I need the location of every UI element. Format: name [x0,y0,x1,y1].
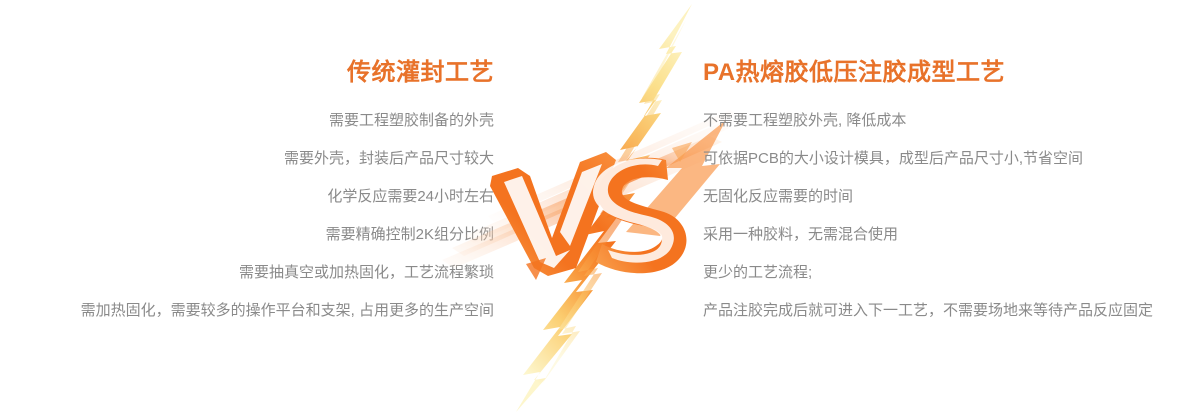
right-column-heading: PA热熔胶低压注胶成型工艺 [703,58,1005,88]
list-item: 不需要工程塑胶外壳, 降低成本 [703,110,1200,132]
list-item: 更少的工艺流程; [703,262,1200,284]
left-column-heading: 传统灌封工艺 [347,58,494,88]
comparison-stage: 传统灌封工艺 需要工程塑胶制备的外壳 需要外壳，封装后产品尺寸较大 化学反应需要… [0,0,1200,413]
right-column-pa-hotmelt-process: PA热熔胶低压注胶成型工艺 不需要工程塑胶外壳, 降低成本 可依据PCB的大小设… [703,0,1200,413]
list-item: 采用一种胶料，无需混合使用 [703,224,1200,246]
right-feature-list: 不需要工程塑胶外壳, 降低成本 可依据PCB的大小设计模具，成型后产品尺寸小,节… [703,110,1200,338]
list-item: 化学反应需要24小时左右 [0,186,500,208]
left-column-traditional-process: 传统灌封工艺 需要工程塑胶制备的外壳 需要外壳，封装后产品尺寸较大 化学反应需要… [0,0,500,413]
list-item: 产品注胶完成后就可进入下一工艺，不需要场地来等待产品反应固定 [703,300,1200,322]
list-item: 需要精确控制2K组分比例 [0,224,500,246]
list-item: 无固化反应需要的时间 [703,186,1200,208]
list-item: 需要抽真空或加热固化，工艺流程繁琐 [0,262,500,284]
list-item: 可依据PCB的大小设计模具，成型后产品尺寸小,节省空间 [703,148,1200,170]
left-feature-list: 需要工程塑胶制备的外壳 需要外壳，封装后产品尺寸较大 化学反应需要24小时左右 … [0,110,500,338]
list-item: 需要工程塑胶制备的外壳 [0,110,500,132]
list-item: 需加热固化，需要较多的操作平台和支架, 占用更多的生产空间 [0,300,500,322]
list-item: 需要外壳，封装后产品尺寸较大 [0,148,500,170]
